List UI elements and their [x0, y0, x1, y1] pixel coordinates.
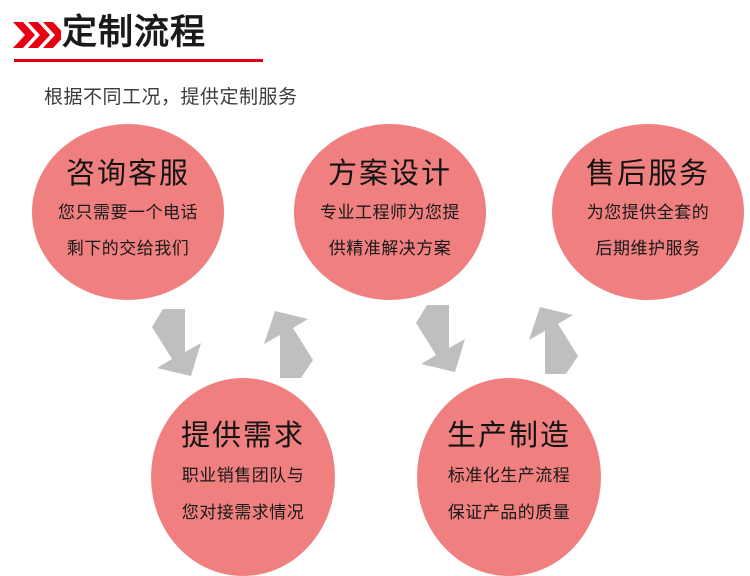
flow-node-desc-line-2: 后期维护服务: [596, 237, 701, 262]
flow-node-consult-service[interactable]: 咨询客服 您只需要一个电话 剩下的交给我们: [32, 124, 224, 300]
process-flow-diagram: 咨询客服 您只需要一个电话 剩下的交给我们 方案设计 专业工程师为您提 供精准解…: [0, 0, 750, 576]
arrow-4-up-right: [529, 307, 578, 374]
arrow-2-up-right: [264, 311, 313, 378]
customization-process-slide: 定制流程 根据不同工况，提供定制服务 咨询客服: [0, 0, 750, 576]
flow-node-desc-line-1: 标准化生产流程: [448, 464, 571, 489]
flow-node-title: 咨询客服: [66, 156, 190, 190]
flow-node-solution-design[interactable]: 方案设计 专业工程师为您提 供精准解决方案: [294, 124, 486, 300]
arrow-1-down-right: [152, 309, 201, 376]
flow-node-desc-line-2: 保证产品的质量: [448, 501, 571, 526]
flow-node-desc-line-1: 专业工程师为您提: [320, 201, 460, 226]
flow-node-desc-line-2: 剩下的交给我们: [67, 237, 190, 262]
flow-node-provide-requirements[interactable]: 提供需求 职业销售团队与 您对接需求情况: [151, 378, 335, 576]
flow-node-production-manufacturing[interactable]: 生产制造 标准化生产流程 保证产品的质量: [417, 378, 601, 576]
flow-node-title: 方案设计: [328, 156, 452, 190]
flow-node-title: 售后服务: [586, 156, 710, 190]
flow-node-title: 提供需求: [181, 418, 305, 452]
flow-node-desc-line-1: 为您提供全套的: [587, 201, 710, 226]
flow-node-desc-line-1: 您只需要一个电话: [58, 201, 198, 226]
flow-node-after-sales-service[interactable]: 售后服务 为您提供全套的 后期维护服务: [552, 124, 744, 300]
flow-node-desc-line-2: 供精准解决方案: [329, 237, 452, 262]
arrow-3-down-right: [416, 305, 465, 372]
flow-node-title: 生产制造: [447, 418, 571, 452]
flow-node-desc-line-2: 您对接需求情况: [182, 501, 305, 526]
flow-node-desc-line-1: 职业销售团队与: [182, 464, 305, 489]
